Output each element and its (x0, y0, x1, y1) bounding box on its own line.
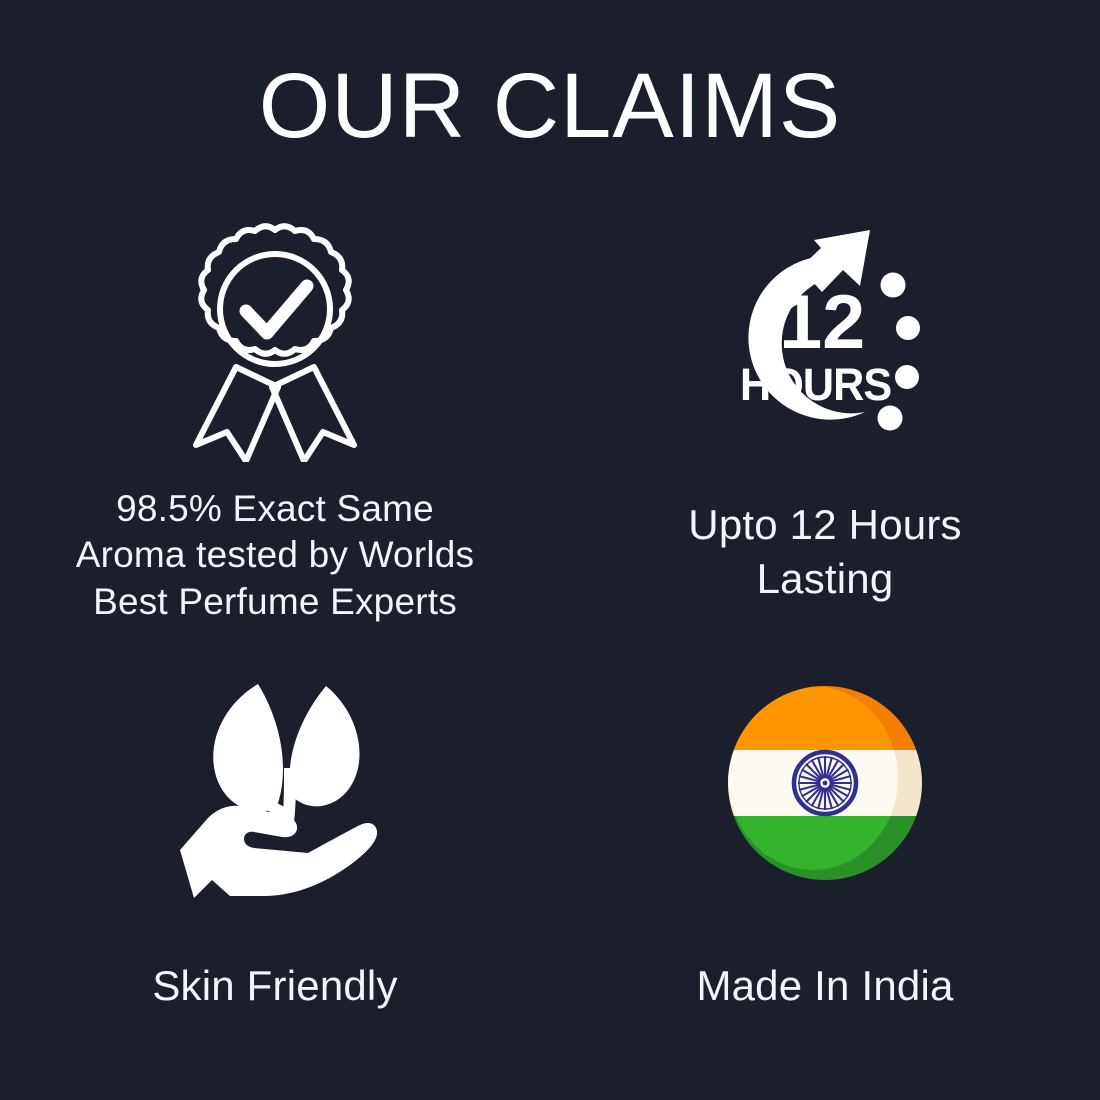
hour-dot (896, 316, 920, 340)
hour-dot (881, 273, 906, 298)
hand-shape (180, 806, 377, 898)
caption-line: 98.5% Exact Same (65, 486, 485, 532)
india-flag-circle-icon-wrap (725, 663, 925, 903)
caption-line: Lasting (625, 552, 1025, 606)
ashoka-chakra-icon (794, 752, 856, 814)
page-title: OUR CLAIMS (0, 58, 1100, 155)
caption-line: Aroma tested by Worlds (65, 532, 485, 578)
hours-number-label: 12 (779, 281, 865, 365)
caption-line: Best Perfume Experts (65, 579, 485, 625)
twelve-hours-icon: 12 HOURS (710, 222, 940, 457)
caption-line: Upto 12 Hours (625, 498, 1025, 552)
caption-line: Skin Friendly (152, 961, 397, 1011)
hand-holding-plant-icon-wrap (168, 663, 383, 903)
hours-unit-label: HOURS (740, 360, 891, 410)
claim-card-made-in-india: Made In India (550, 635, 1100, 1075)
claim-caption-made-in-india: Made In India (696, 961, 953, 1011)
caption-line: Made In India (696, 961, 953, 1011)
award-badge-icon-wrap (170, 217, 380, 462)
hour-dot (895, 365, 919, 389)
claim-caption-skin-friendly: Skin Friendly (152, 961, 397, 1011)
leaf-right-shape (289, 686, 359, 806)
claim-caption-long-lasting: Upto 12 Hours Lasting (625, 498, 1025, 606)
claim-card-long-lasting: 12 HOURS Upto 12 Hours Lasting (550, 195, 1100, 635)
claim-card-exact-aroma: 98.5% Exact Same Aroma tested by Worlds … (0, 195, 550, 635)
hand-holding-plant-icon (168, 668, 383, 898)
claim-caption-exact-aroma: 98.5% Exact Same Aroma tested by Worlds … (65, 486, 485, 625)
our-claims-poster: OUR CLAIMS (0, 0, 1100, 1100)
twelve-hours-icon-wrap: 12 HOURS (710, 217, 940, 462)
india-flag-circle-icon (725, 683, 925, 883)
award-badge-icon (170, 217, 380, 462)
claims-grid: 98.5% Exact Same Aroma tested by Worlds … (0, 195, 1100, 1075)
claim-card-skin-friendly: Skin Friendly (0, 635, 550, 1075)
